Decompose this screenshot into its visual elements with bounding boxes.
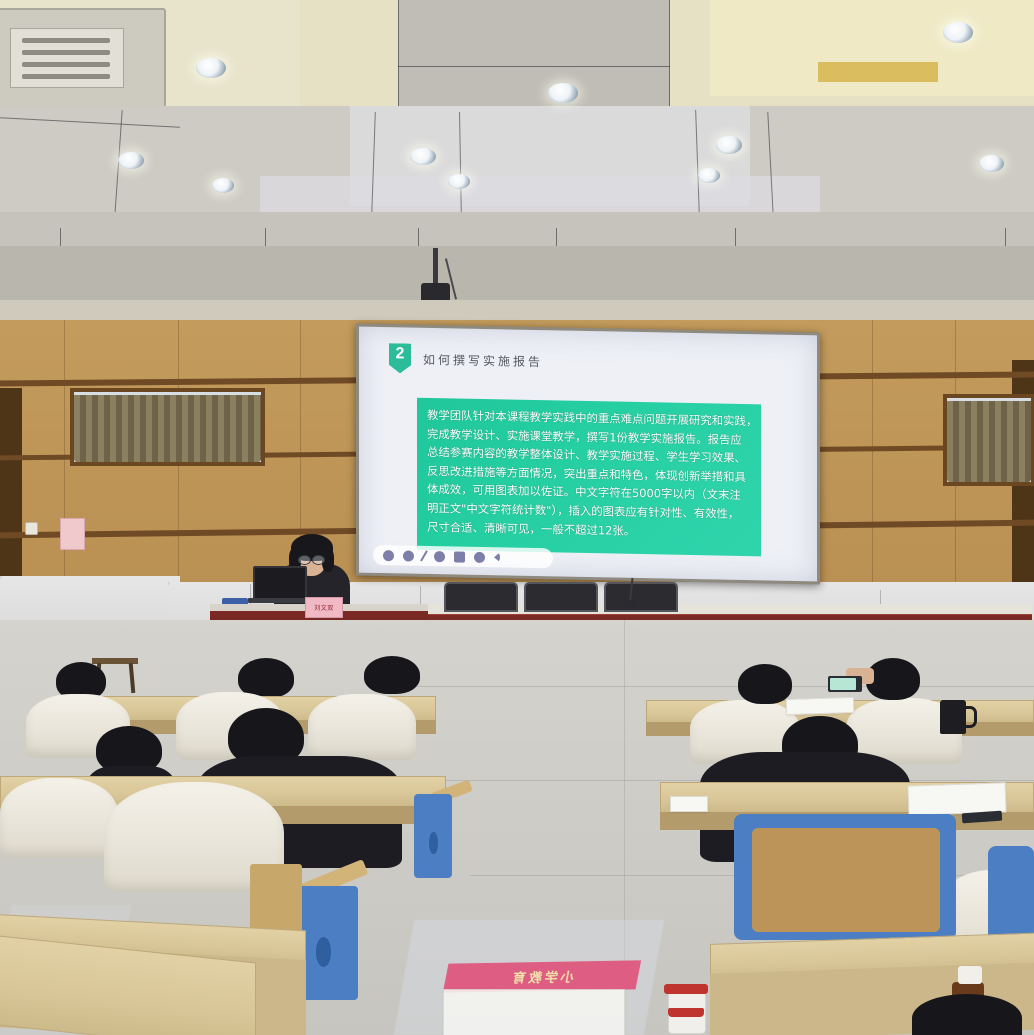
- paper-sheet: [670, 796, 708, 812]
- slide-number-badge: 2: [389, 343, 411, 373]
- stage-chair: [524, 582, 598, 612]
- downlight-icon: [943, 22, 973, 43]
- thermos-mug: [940, 700, 966, 734]
- window-curtain: [74, 395, 261, 462]
- microphone-icon: [624, 600, 637, 609]
- paper-sheet: [786, 697, 855, 715]
- slide-header: 2 如何撰写实施报告: [389, 343, 543, 376]
- seat-cover: [0, 778, 118, 858]
- downlight-icon: [698, 168, 720, 183]
- head-table-surface: [428, 604, 1032, 614]
- lecture-hall-photo: 2 如何撰写实施报告 教学团队针对本课程教学实践中的重点难点问题开展研究和实践，…: [0, 0, 1034, 1035]
- bottle-cap: [958, 966, 982, 984]
- stage-chair: [444, 582, 518, 612]
- collapse-chevron-icon[interactable]: [494, 552, 500, 562]
- pen-tool-icon[interactable]: [420, 550, 428, 561]
- video-icon[interactable]: [454, 551, 465, 562]
- presenter-glasses: [298, 555, 311, 565]
- seat-cover: [308, 694, 416, 760]
- window-curtain-right: [947, 401, 1031, 482]
- presenter-glasses: [312, 555, 325, 565]
- ceiling: [0, 0, 1034, 320]
- downlight-icon: [979, 155, 1004, 172]
- audience-head: [364, 656, 420, 694]
- name-placard: 刘文双: [305, 597, 343, 618]
- projector-mount: [433, 248, 438, 284]
- laptop-keyboard[interactable]: [248, 598, 308, 603]
- downlight-icon: [212, 178, 234, 193]
- downlight-icon: [118, 152, 144, 169]
- phone-screen: [830, 678, 856, 690]
- thermos-handle: [964, 706, 977, 728]
- audience-head-front: [912, 994, 1022, 1035]
- wall-notice-paper: [60, 518, 85, 550]
- smartphone-recording[interactable]: [828, 676, 862, 692]
- downlight-icon: [196, 58, 226, 78]
- previous-slide-icon[interactable]: [383, 550, 394, 561]
- laser-pointer-icon[interactable]: [434, 551, 445, 562]
- slide-content: 2 如何撰写实施报告 教学团队针对本课程教学实践中的重点难点问题开展研究和实践，…: [359, 327, 817, 582]
- audience-head-photographer: [866, 658, 920, 700]
- paper-cup-lid: [664, 984, 708, 994]
- slide-title: 如何撰写实施报告: [423, 350, 543, 369]
- record-icon[interactable]: [474, 551, 485, 562]
- projection-screen: 2 如何撰写实施报告 教学团队针对本课程教学实践中的重点难点问题开展研究和实践，…: [356, 324, 820, 585]
- next-slide-icon[interactable]: [403, 550, 414, 561]
- name-placard-text: 刘文双: [314, 603, 334, 612]
- downlight-icon: [548, 83, 578, 103]
- seat-side-panel[interactable]: [414, 794, 452, 878]
- slide-text-box: 教学团队针对本课程教学实践中的重点难点问题开展研究和实践， 完成教学设计、实施课…: [417, 398, 761, 557]
- audience-head: [738, 664, 792, 704]
- downlight-icon: [410, 148, 436, 165]
- downlight-icon: [448, 174, 470, 189]
- stage-chair: [604, 582, 678, 612]
- reflected-banner: 小学教育: [443, 960, 641, 992]
- floor-reflection-paper: [443, 989, 625, 1035]
- window-right: [943, 394, 1034, 486]
- window-left: [70, 388, 265, 466]
- paper-cup-band: [668, 1008, 704, 1017]
- slide-toolbar[interactable]: [373, 545, 553, 568]
- light-switch[interactable]: [25, 522, 38, 535]
- ceiling-ac-unit: [0, 8, 166, 108]
- seat-back-cushion: [752, 828, 940, 932]
- downlight-icon: [716, 136, 742, 154]
